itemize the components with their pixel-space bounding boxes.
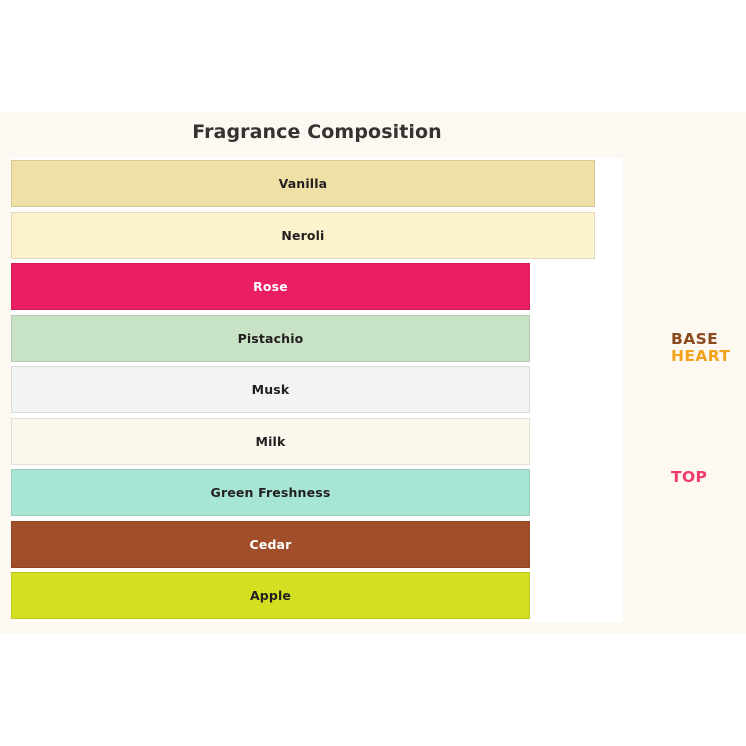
bar-label: Milk bbox=[256, 434, 286, 449]
bar-cedar[interactable]: Cedar bbox=[11, 521, 530, 568]
bar-rose[interactable]: Rose bbox=[11, 263, 530, 310]
bar-label: Pistachio bbox=[238, 331, 304, 346]
bar-row: Pistachio bbox=[11, 313, 623, 365]
bar-row: Neroli bbox=[11, 210, 623, 262]
bar-row: Cedar bbox=[11, 519, 623, 571]
stage-label-heart: HEART bbox=[671, 347, 730, 365]
bar-label: Cedar bbox=[250, 537, 292, 552]
bar-neroli[interactable]: Neroli bbox=[11, 212, 595, 259]
bar-label: Green Freshness bbox=[211, 485, 331, 500]
bar-musk[interactable]: Musk bbox=[11, 366, 530, 413]
bar-row: Milk bbox=[11, 416, 623, 468]
bar-label: Musk bbox=[252, 382, 290, 397]
bar-row: Rose bbox=[11, 261, 623, 313]
bar-row: Green Freshness bbox=[11, 467, 623, 519]
bar-pistachio[interactable]: Pistachio bbox=[11, 315, 530, 362]
chart-title: Fragrance Composition bbox=[11, 119, 623, 145]
screenshot-root: Fragrance Composition VanillaNeroliRoseP… bbox=[0, 0, 746, 746]
bar-green-freshness[interactable]: Green Freshness bbox=[11, 469, 530, 516]
stage-label-top: TOP bbox=[671, 468, 707, 486]
bar-label: Vanilla bbox=[279, 176, 328, 191]
bar-row: Musk bbox=[11, 364, 623, 416]
bar-milk[interactable]: Milk bbox=[11, 418, 530, 465]
bar-apple[interactable]: Apple bbox=[11, 572, 530, 619]
bar-label: Apple bbox=[250, 588, 291, 603]
stage-label-base: BASE bbox=[671, 330, 718, 348]
bar-row: Vanilla bbox=[11, 158, 623, 210]
bar-row: Apple bbox=[11, 570, 623, 622]
bar-label: Rose bbox=[253, 279, 288, 294]
bar-vanilla[interactable]: Vanilla bbox=[11, 160, 595, 207]
plot-area: VanillaNeroliRosePistachioMuskMilkGreen … bbox=[11, 158, 623, 622]
bar-label: Neroli bbox=[281, 228, 324, 243]
